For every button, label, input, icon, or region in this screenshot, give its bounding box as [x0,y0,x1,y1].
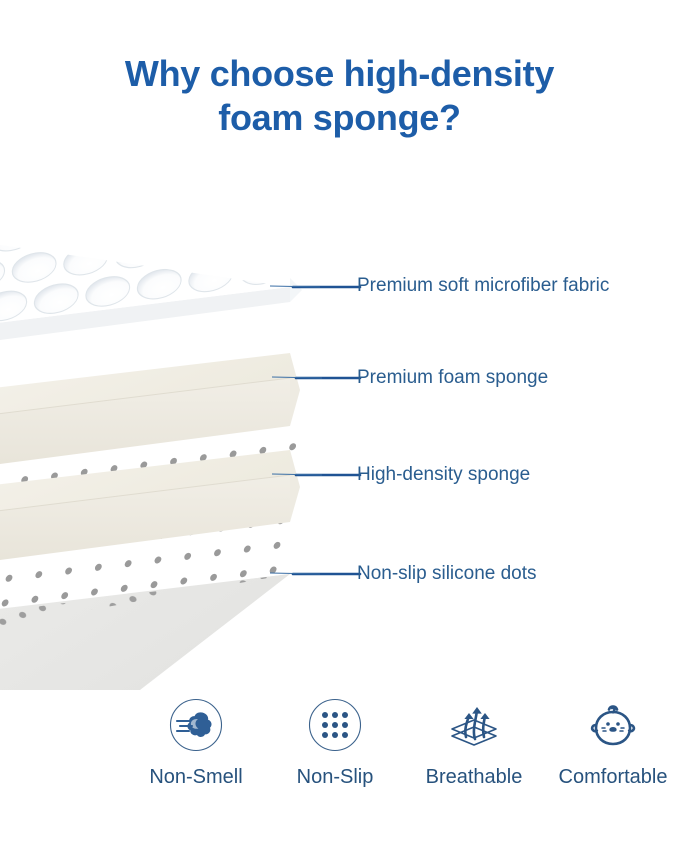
page-title: Why choose high-density foam sponge? [0,52,679,140]
feature-comfortable: Comfortable [547,697,679,789]
callout-label-non-slip-silicone-dots: Non-slip silicone dots [357,563,537,585]
scent-waves-icon [168,697,224,753]
feature-label-breathable: Breathable [426,765,523,789]
microfiber-fabric-layer [0,150,308,382]
bump-row [0,150,300,220]
leader-lines [293,287,360,574]
page-title-line-2: foam sponge? [0,96,679,140]
feature-label-non-slip: Non-Slip [297,765,374,789]
leader-line-tails [270,286,322,574]
feature-label-comfortable: Comfortable [559,765,668,789]
product-infographic: Why choose high-density foam sponge? [0,0,679,849]
airflow-layers-icon [446,697,502,753]
feature-non-slip: Non-Slip [269,697,401,789]
dot-grid-icon [307,697,363,753]
feature-label-non-smell: Non-Smell [149,765,242,789]
page-title-line-1: Why choose high-density [125,53,554,94]
bump-row [0,150,278,189]
exploded-layer-diagram [0,150,679,690]
callout-label-microfiber-fabric: Premium soft microfiber fabric [357,275,609,297]
feature-row: Non-Smell Non-Slip [130,697,679,807]
baby-face-icon [585,697,641,753]
feature-non-smell: Non-Smell [130,697,262,789]
callout-label-high-density-sponge: High-density sponge [357,464,530,486]
feature-breathable: Breathable [408,697,540,789]
callout-label-premium-foam-sponge: Premium foam sponge [357,367,548,389]
